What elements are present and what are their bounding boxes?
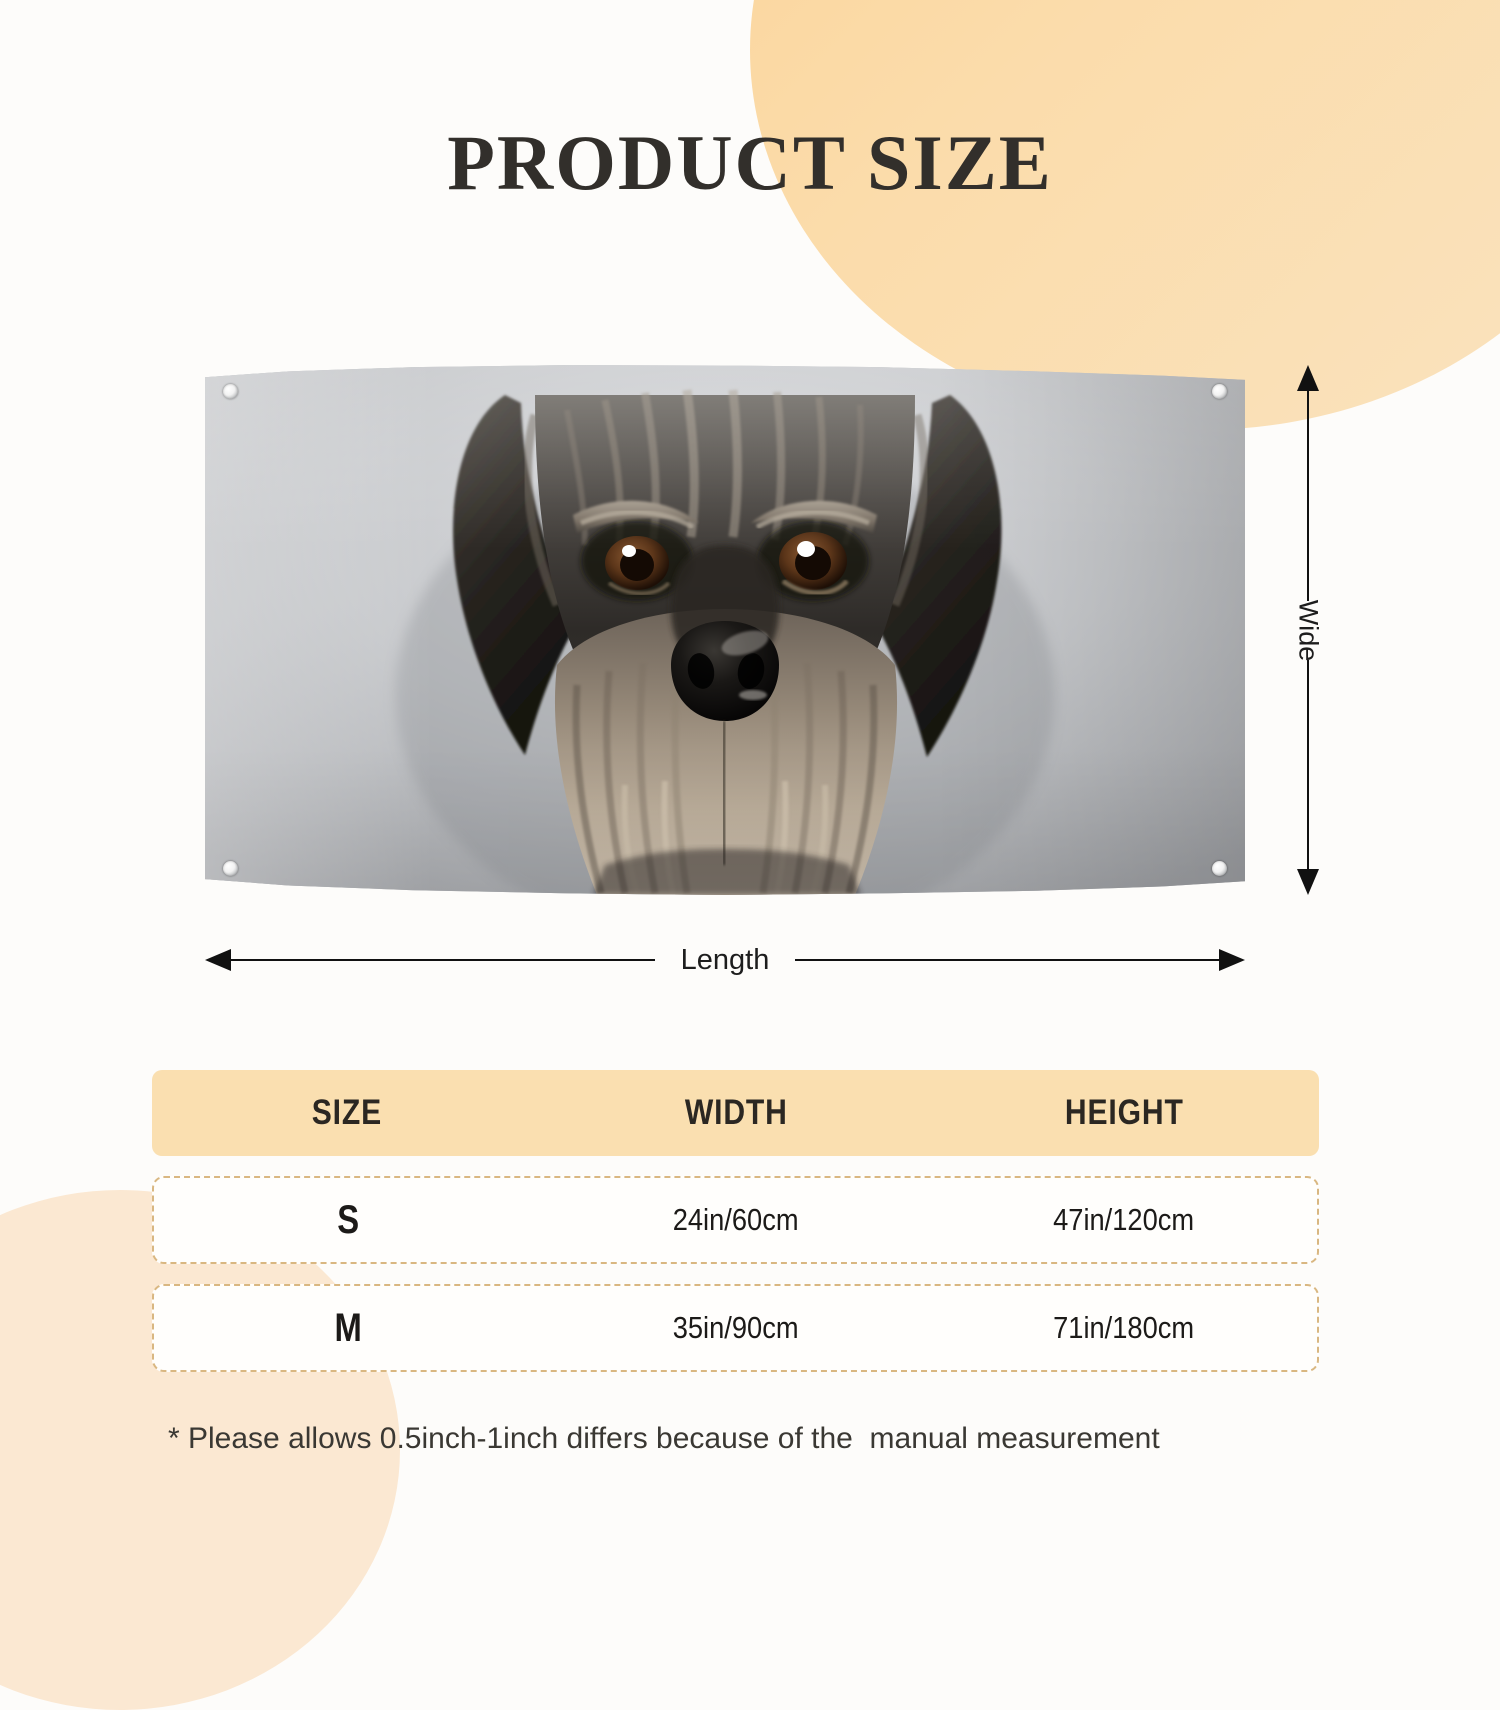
cell-height: 71in/180cm <box>953 1310 1294 1346</box>
length-label: Length <box>655 944 796 977</box>
arrow-up-icon <box>1297 365 1319 391</box>
length-line-left <box>231 959 655 961</box>
table-header-row: SIZE WIDTH HEIGHT <box>152 1070 1319 1156</box>
cell-width: 24in/60cm <box>566 1202 907 1238</box>
banner-product-photo <box>205 365 1245 895</box>
header-height: HEIGHT <box>958 1093 1292 1133</box>
arrow-right-icon <box>1219 949 1245 971</box>
cell-size: M <box>189 1306 508 1351</box>
grommet-bottom-left <box>223 861 238 876</box>
header-size: SIZE <box>179 1093 514 1133</box>
grommet-top-right <box>1212 384 1227 399</box>
wide-label: Wide <box>1279 599 1338 661</box>
product-size-page: PRODUCT SIZE <box>0 0 1500 1500</box>
table-row: S 24in/60cm 47in/120cm <box>152 1176 1319 1264</box>
wide-line-lower <box>1307 660 1309 870</box>
header-width: WIDTH <box>569 1093 903 1133</box>
length-dimension-indicator: Length <box>205 930 1245 990</box>
size-table: SIZE WIDTH HEIGHT S 24in/60cm 47in/120cm… <box>152 1070 1319 1372</box>
cell-width: 35in/90cm <box>566 1310 907 1346</box>
cell-height: 47in/120cm <box>953 1202 1294 1238</box>
grommet-top-left <box>223 384 238 399</box>
wide-dimension-indicator: Wide <box>1288 365 1328 895</box>
cell-size: S <box>189 1198 508 1243</box>
product-image-container <box>205 365 1245 895</box>
banner-vignette <box>205 365 1245 895</box>
table-row: M 35in/90cm 71in/180cm <box>152 1284 1319 1372</box>
page-title: PRODUCT SIZE <box>0 118 1500 208</box>
measurement-note: * Please allows 0.5inch-1inch differs be… <box>168 1422 1160 1456</box>
wide-line-upper <box>1307 391 1309 601</box>
length-line-right <box>795 959 1219 961</box>
grommet-bottom-right <box>1212 861 1227 876</box>
arrow-left-icon <box>205 949 231 971</box>
arrow-down-icon <box>1297 869 1319 895</box>
